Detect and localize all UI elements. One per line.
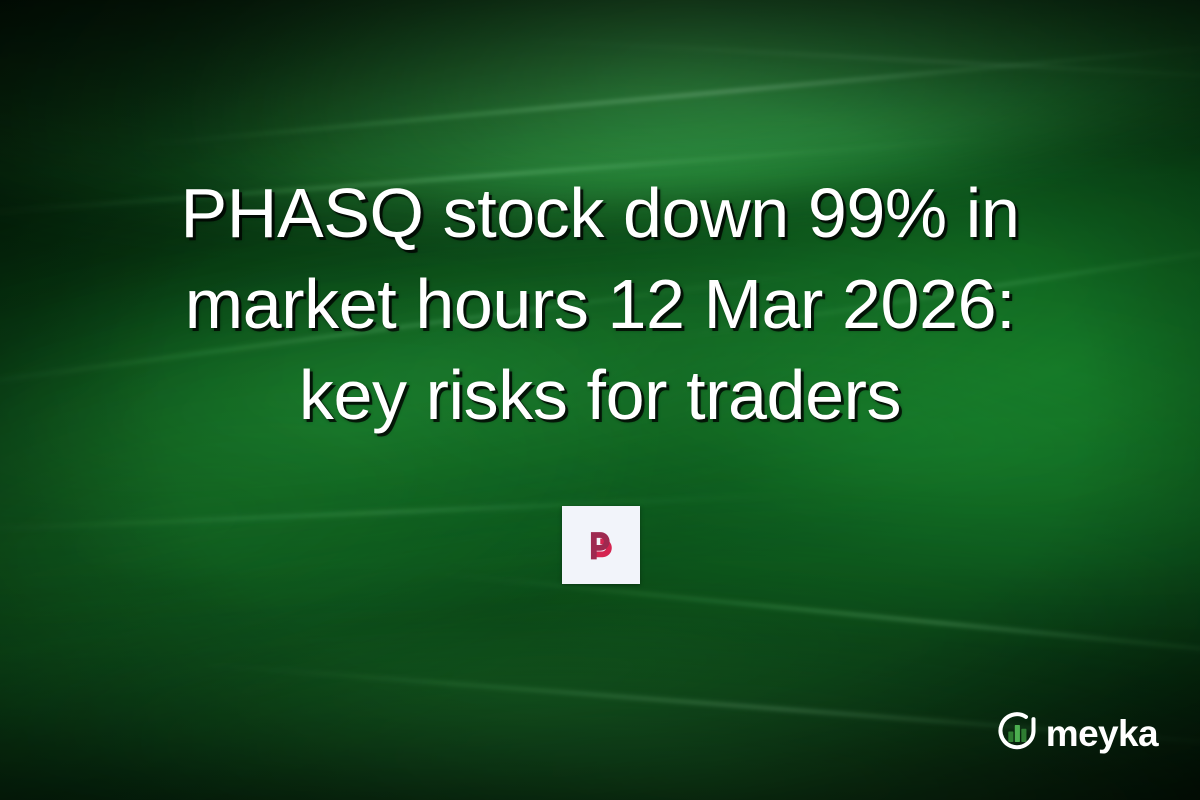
- light-streak-1: [122, 39, 1200, 148]
- brand-wordmark: meyka: [1046, 715, 1158, 752]
- light-streak-3: [521, 39, 1200, 84]
- pb-monogram-icon: [578, 522, 624, 568]
- light-streak-7: [0, 493, 820, 533]
- source-logo-badge: [562, 506, 640, 584]
- headline-line-1: PHASQ stock down 99% in: [70, 168, 1130, 259]
- hero-card: PHASQ stock down 99% in market hours 12 …: [0, 0, 1200, 800]
- brand-lockup: meyka: [995, 709, 1158, 758]
- headline: PHASQ stock down 99% in market hours 12 …: [0, 168, 1200, 441]
- headline-line-3: key risks for traders: [70, 350, 1130, 441]
- meyka-chart-ring-icon: [995, 709, 1039, 758]
- wave-sweep-low-b: [0, 574, 1200, 800]
- headline-line-2: market hours 12 Mar 2026:: [70, 259, 1130, 350]
- light-streak-5: [422, 571, 1200, 671]
